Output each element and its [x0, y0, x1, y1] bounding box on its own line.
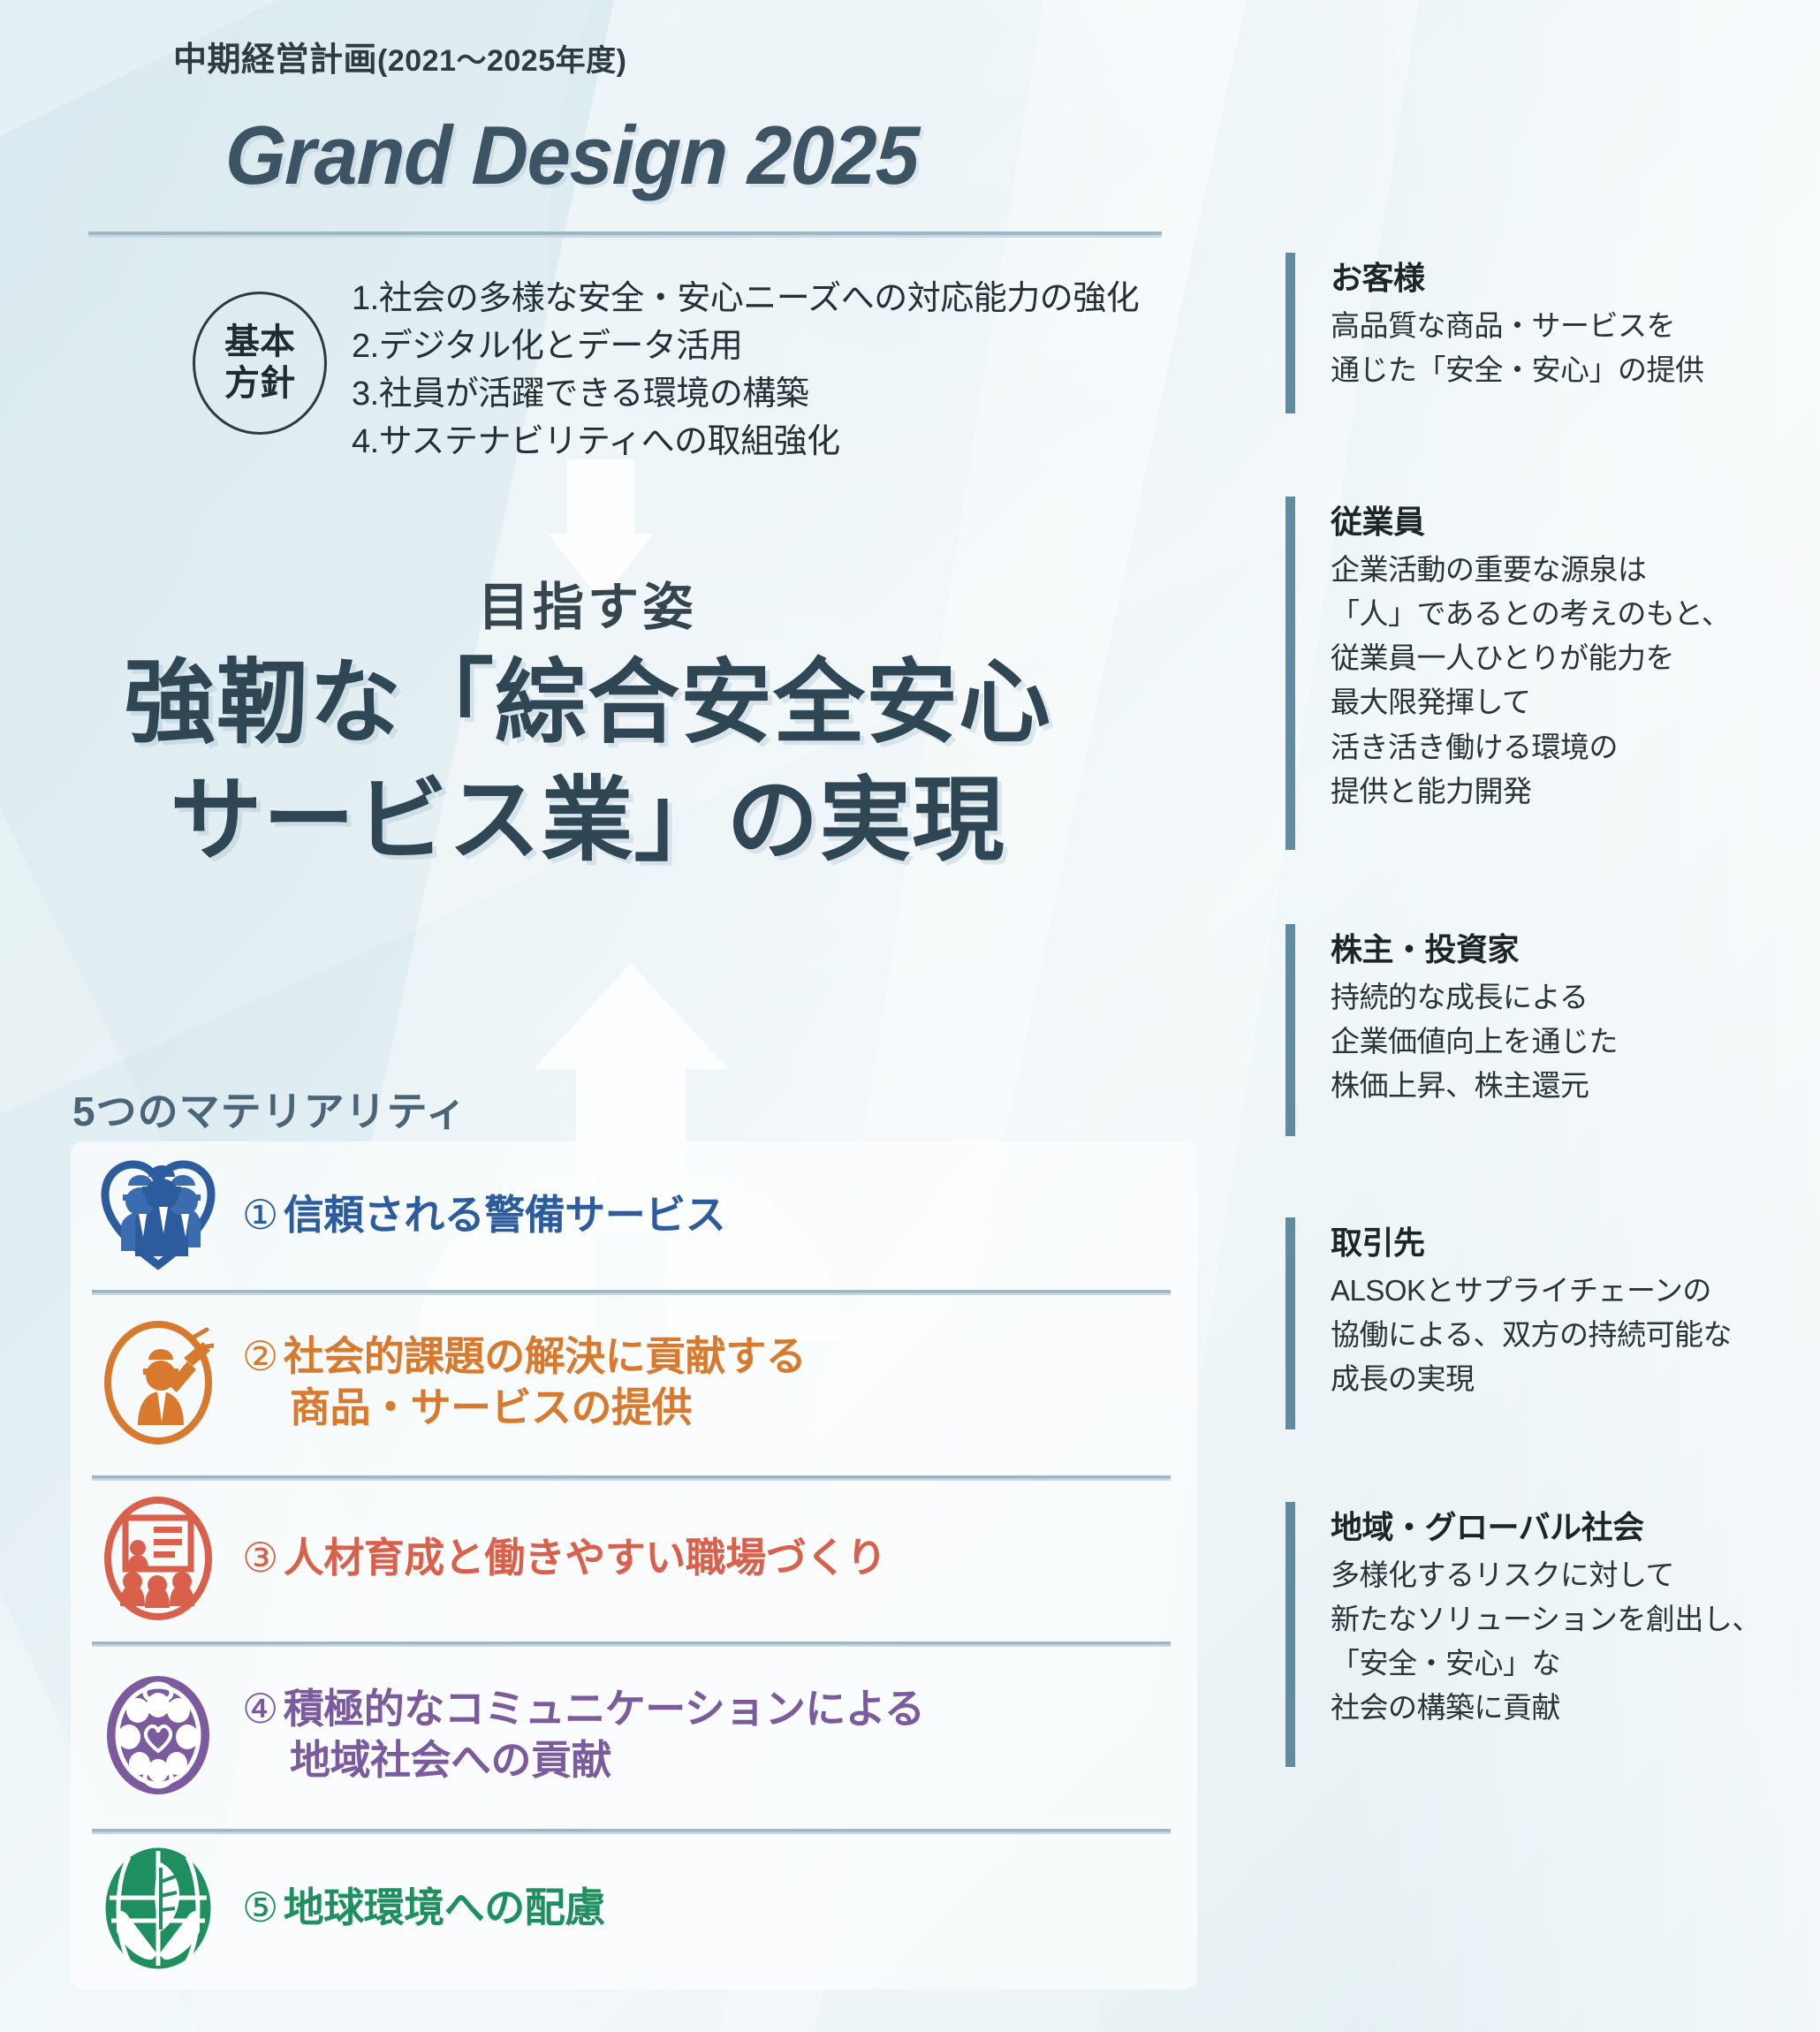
vision-line-2: サービス業」の実現 [0, 762, 1175, 880]
page-title: Grand Design 2025 [224, 108, 920, 203]
basic-policy-item-1: 1.社会の多様な安全・安心ニーズへの対応能力の強化 [352, 276, 1139, 323]
left-column: 中期経営計画(2021〜2025年度) Grand Design 2025 基本… [0, 0, 1237, 2032]
stakeholder-shareholders-title: 株主・投資家 [1331, 924, 1618, 970]
materiality-item-5-text: ⑤地球環境への配慮 [224, 1883, 605, 1934]
materiality-item-2-text: ②社会的課題の解決に貢献する 商品・サービスの提供 [224, 1331, 806, 1434]
stakeholder-customers-title: お客様 [1331, 253, 1704, 299]
materiality-item-5-number: ⑤ [242, 1884, 278, 1930]
materiality-item-1-label: 信頼される警備サービス [284, 1192, 726, 1238]
stakeholder-employees: 従業員 企業活動の重要な源泉は 「人」であるとの考えのもと、 従業員一人ひとりが… [1285, 497, 1730, 850]
materiality-item-1[interactable]: ①信頼される警備サービス [71, 1141, 1197, 1290]
stakeholder-society-line-3: 「安全・安心」な [1331, 1642, 1761, 1686]
stakeholder-employees-line-3: 従業員一人ひとりが能力を [1331, 636, 1730, 680]
stakeholder-society-line-2: 新たなソリューションを創出し、 [1331, 1597, 1761, 1642]
heart-guards-icon [92, 1149, 224, 1282]
materiality-heading: 5つのマテリアリティ [72, 1080, 467, 1138]
materiality-item-5-label: 地球環境への配慮 [284, 1884, 605, 1930]
basic-policy-item-4: 4.サステナビリティへの取組強化 [352, 419, 1139, 466]
header-divider [88, 231, 1162, 238]
materiality-item-3-text: ③人材育成と働きやすい職場づくり [224, 1533, 886, 1584]
materiality-item-4-label: 積極的なコミュニケーションによる [284, 1686, 925, 1732]
basic-policy-item-3: 3.社員が活躍できる環境の構築 [352, 371, 1139, 419]
community-heart-icon [92, 1669, 224, 1801]
stakeholder-shareholders-line-1: 持続的な成長による [1331, 975, 1618, 1020]
stakeholder-suppliers-line-3: 成長の実現 [1331, 1357, 1732, 1401]
training-board-icon [92, 1492, 224, 1625]
basic-policy-list: 1.社会の多様な安全・安心ニーズへの対応能力の強化 2.デジタル化とデータ活用 … [352, 276, 1139, 466]
plan-period: (2021〜2025年度) [377, 44, 626, 78]
stakeholder-employees-line-2: 「人」であるとの考えのもと、 [1331, 592, 1730, 636]
stakeholder-customers-line-1: 高品質な商品・サービスを [1331, 304, 1704, 348]
materiality-item-4-label-line2: 地域社会への貢献 [242, 1735, 924, 1786]
materiality-item-1-text: ①信頼される警備サービス [224, 1190, 725, 1241]
materiality-item-3[interactable]: ③人材育成と働きやすい職場づくり [71, 1475, 1197, 1642]
stakeholder-society-line-4: 社会の構築に貢献 [1331, 1686, 1761, 1730]
stakeholders-column: お客様 高品質な商品・サービスを 通じた「安全・安心」の提供 従業員 企業活動の… [1285, 0, 1820, 2032]
materiality-item-4-text: ④積極的なコミュニケーションによる 地域社会への貢献 [224, 1684, 924, 1786]
stakeholder-customers: お客様 高品質な商品・サービスを 通じた「安全・安心」の提供 [1285, 253, 1704, 413]
materiality-item-5[interactable]: ⑤地球環境への配慮 [71, 1829, 1197, 1988]
materiality-item-1-number: ① [242, 1192, 278, 1238]
plan-subtitle-text: 中期経営計画 [173, 42, 377, 79]
basic-policy-item-2: 2.デジタル化とデータ活用 [352, 323, 1139, 371]
materiality-item-2-label: 社会的課題の解決に貢献する [284, 1333, 807, 1379]
stakeholder-employees-line-1: 企業活動の重要な源泉は [1331, 548, 1730, 592]
materiality-card: ①信頼される警備サービス [71, 1141, 1197, 1990]
stakeholder-society-title: 地域・グローバル社会 [1331, 1502, 1761, 1548]
stakeholder-employees-title: 従業員 [1331, 497, 1730, 542]
infographic-page: 中期経営計画(2021〜2025年度) Grand Design 2025 基本… [0, 0, 1820, 2032]
stakeholder-suppliers-title: 取引先 [1331, 1217, 1732, 1263]
basic-policy-badge-line2: 方針 [224, 363, 295, 405]
materiality-item-3-label: 人材育成と働きやすい職場づくり [284, 1535, 887, 1581]
stakeholder-employees-line-6: 提供と能力開発 [1331, 770, 1730, 814]
stakeholder-shareholders: 株主・投資家 持続的な成長による 企業価値向上を通じた 株価上昇、株主還元 [1285, 924, 1618, 1136]
stakeholder-employees-line-4: 最大限発揮して [1331, 680, 1730, 724]
materiality-item-2[interactable]: ②社会的課題の解決に貢献する 商品・サービスの提供 [71, 1290, 1197, 1475]
vision-label: 目指す姿 [0, 565, 1175, 640]
globe-leaf-hands-icon [92, 1842, 224, 1975]
materiality-item-2-label-line2: 商品・サービスの提供 [242, 1383, 806, 1434]
plan-subtitle: 中期経営計画(2021〜2025年度) [173, 32, 626, 80]
guard-flashlight-icon [92, 1316, 224, 1449]
stakeholder-society: 地域・グローバル社会 多様化するリスクに対して 新たなソリューションを創出し、 … [1285, 1502, 1761, 1767]
materiality-item-3-number: ③ [242, 1535, 278, 1581]
stakeholder-shareholders-line-3: 株価上昇、株主還元 [1331, 1064, 1618, 1108]
stakeholder-employees-line-5: 活き活き働ける環境の [1331, 725, 1730, 770]
stakeholder-society-line-1: 多様化するリスクに対して [1331, 1553, 1761, 1597]
materiality-item-2-number: ② [242, 1333, 278, 1379]
vision-line-1: 強靭な「綜合安全安心 [0, 645, 1175, 762]
materiality-item-4[interactable]: ④積極的なコミュニケーションによる 地域社会への貢献 [71, 1642, 1197, 1829]
stakeholder-suppliers-line-1: ALSOKとサプライチェーンの [1331, 1269, 1732, 1313]
materiality-item-4-number: ④ [242, 1686, 278, 1732]
stakeholder-customers-line-2: 通じた「安全・安心」の提供 [1331, 348, 1704, 392]
stakeholder-suppliers-line-2: 協働による、双方の持続可能な [1331, 1313, 1732, 1357]
basic-policy-badge: 基本 方針 [193, 292, 327, 435]
stakeholder-shareholders-line-2: 企業価値向上を通じた [1331, 1020, 1618, 1064]
stakeholder-suppliers: 取引先 ALSOKとサプライチェーンの 協働による、双方の持続可能な 成長の実現 [1285, 1217, 1732, 1429]
basic-policy-badge-line1: 基本 [224, 322, 295, 363]
vision-statement: 強靭な「綜合安全安心 サービス業」の実現 [0, 645, 1175, 880]
